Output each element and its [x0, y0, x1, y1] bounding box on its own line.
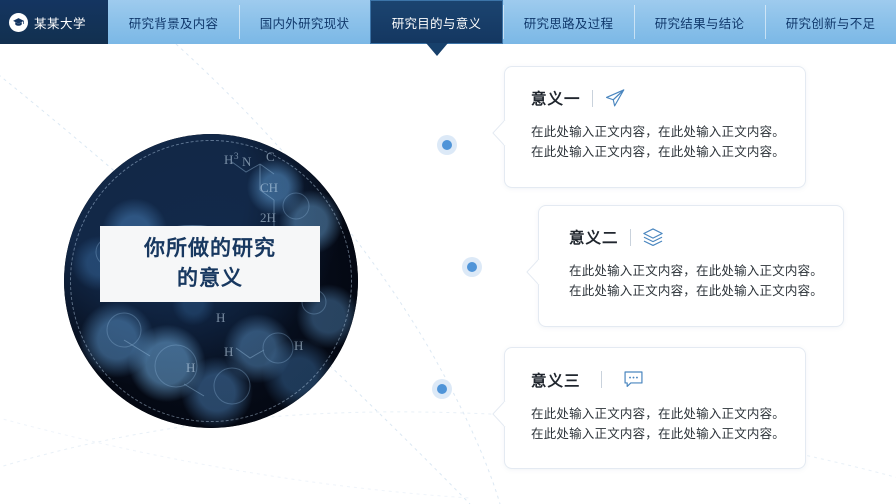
card-content: 意义一 在此处输入正文内容，在此处输入正文内容。 在此处输入正文内容，在此处输入… [505, 67, 805, 162]
top-navigation-bar: 某某大学 研究背景及内容 国内外研究现状 研究目的与意义 研究思路及过程 研究结… [0, 0, 896, 44]
content-card-3[interactable]: 意义三 在此处输入正文内容，在此处输入正文内容。 在此处输入正文内容，在此处输入… [504, 347, 806, 469]
nav-item-research-status[interactable]: 国内外研究现状 [239, 0, 370, 44]
paper-plane-icon [604, 87, 626, 109]
card-body: 在此处输入正文内容，在此处输入正文内容。 在此处输入正文内容，在此处输入正文内容… [531, 404, 783, 444]
card-pointer-tail-icon [492, 119, 506, 147]
card-body-line2: 在此处输入正文内容，在此处输入正文内容。 [569, 281, 821, 301]
nav-item-research-process[interactable]: 研究思路及过程 [503, 0, 634, 44]
card-body-line1: 在此处输入正文内容，在此处输入正文内容。 [531, 404, 783, 424]
slide-root: 某某大学 研究背景及内容 国内外研究现状 研究目的与意义 研究思路及过程 研究结… [0, 0, 896, 504]
nav-item-research-innovation[interactable]: 研究创新与不足 [765, 0, 896, 44]
nav-item-research-purpose[interactable]: 研究目的与意义 [370, 0, 503, 44]
card-header: 意义二 [569, 226, 821, 248]
chat-bubble-icon [622, 368, 645, 391]
card-body: 在此处输入正文内容，在此处输入正文内容。 在此处输入正文内容，在此处输入正文内容… [531, 122, 783, 162]
nav-item-label: 国内外研究现状 [260, 13, 350, 32]
card-header: 意义三 [531, 368, 783, 391]
timeline-dot-2[interactable] [462, 257, 482, 277]
graduation-cap-icon [9, 13, 28, 32]
hero-title-line2: 的意义 [177, 264, 243, 294]
card-title: 意义一 [531, 87, 581, 109]
timeline-dot-3[interactable] [432, 379, 452, 399]
nav-item-research-results[interactable]: 研究结果与结论 [634, 0, 765, 44]
content-card-1[interactable]: 意义一 在此处输入正文内容，在此处输入正文内容。 在此处输入正文内容，在此处输入… [504, 66, 806, 188]
timeline-dot-1[interactable] [437, 135, 457, 155]
card-header: 意义一 [531, 87, 783, 109]
nav-item-label: 研究背景及内容 [129, 13, 219, 32]
card-title: 意义三 [531, 369, 581, 391]
brand-logo-block[interactable]: 某某大学 [0, 0, 108, 44]
card-title: 意义二 [569, 226, 619, 248]
card-separator [630, 229, 631, 246]
card-body-line1: 在此处输入正文内容，在此处输入正文内容。 [569, 261, 821, 281]
card-content: 意义三 在此处输入正文内容，在此处输入正文内容。 在此处输入正文内容，在此处输入… [505, 348, 805, 444]
hero-title-line1: 你所做的研究 [144, 234, 276, 264]
layers-icon [642, 226, 664, 248]
card-content: 意义二 在此处输入正文内容，在此处输入正文内容。 在此处输入正文内容，在此处输入… [539, 206, 843, 301]
card-pointer-tail-icon [526, 258, 540, 286]
nav-item-research-background[interactable]: 研究背景及内容 [108, 0, 239, 44]
nav-item-label: 研究思路及过程 [524, 13, 614, 32]
content-card-2[interactable]: 意义二 在此处输入正文内容，在此处输入正文内容。 在此处输入正文内容，在此处输入… [538, 205, 844, 327]
card-body-line2: 在此处输入正文内容，在此处输入正文内容。 [531, 424, 783, 444]
brand-name-text: 某某大学 [34, 13, 86, 32]
card-body-line2: 在此处输入正文内容，在此处输入正文内容。 [531, 142, 783, 162]
card-body: 在此处输入正文内容，在此处输入正文内容。 在此处输入正文内容，在此处输入正文内容… [569, 261, 821, 301]
nav-item-label: 研究目的与意义 [392, 13, 482, 32]
active-tab-pointer-icon [426, 43, 448, 56]
nav-item-label: 研究结果与结论 [655, 13, 745, 32]
card-body-line1: 在此处输入正文内容，在此处输入正文内容。 [531, 122, 783, 142]
nav-item-label: 研究创新与不足 [786, 13, 876, 32]
hero-title-box: 你所做的研究 的意义 [100, 226, 320, 302]
nav-item-list: 研究背景及内容 国内外研究现状 研究目的与意义 研究思路及过程 研究结果与结论 … [108, 0, 896, 44]
card-separator [601, 371, 602, 388]
card-pointer-tail-icon [492, 400, 506, 428]
card-separator [592, 90, 593, 107]
